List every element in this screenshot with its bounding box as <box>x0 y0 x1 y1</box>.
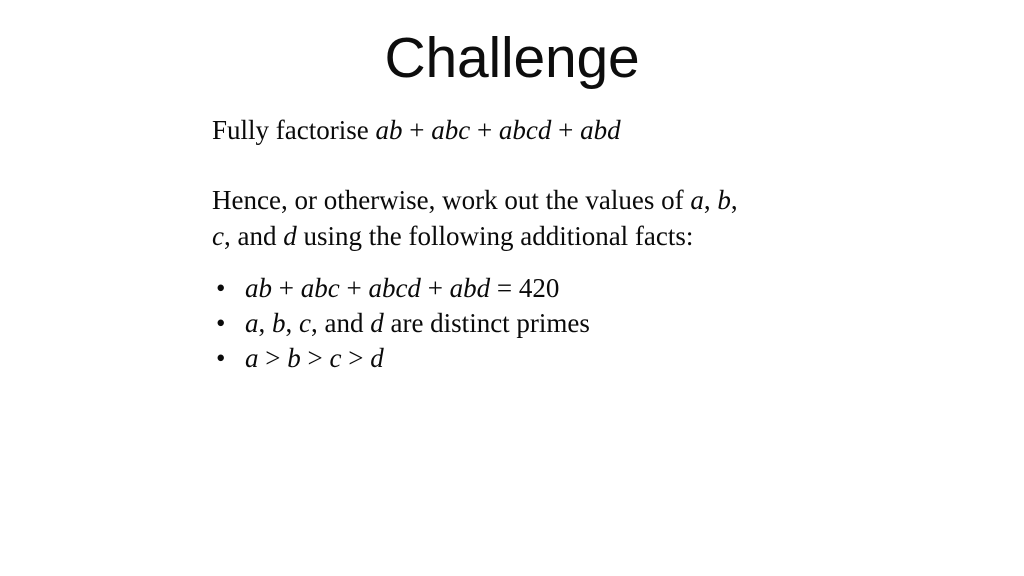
fact1-value: 420 <box>519 273 560 303</box>
additional-facts-list: • ab + abc + abcd + abd = 420 • a, b, c,… <box>212 271 912 376</box>
fact2-sep-2: , <box>286 308 300 338</box>
fact1-plus-3: + <box>421 273 450 303</box>
fact2-tail: are distinct primes <box>384 308 590 338</box>
fact1-equals: = <box>490 273 519 303</box>
fact3-variable-c: c <box>329 343 341 373</box>
separator-1: , <box>704 185 718 215</box>
separator-3: , and <box>224 221 283 251</box>
term-ab: ab <box>375 115 402 145</box>
list-item: • ab + abc + abcd + abd = 420 <box>212 271 912 306</box>
plus-operator-1: + <box>402 115 431 145</box>
fact3-variable-d: d <box>370 343 384 373</box>
bullet-dot-icon: • <box>216 306 230 341</box>
page-title: Challenge <box>0 28 1024 88</box>
paragraph1-lead: Fully factorise <box>212 115 375 145</box>
variable-c-inline: c <box>212 221 224 251</box>
bullet-dot-icon: • <box>216 271 230 306</box>
plus-operator-3: + <box>551 115 580 145</box>
fact2-variable-a: a <box>245 308 259 338</box>
paragraph-hence-or-otherwise: Hence, or otherwise, work out the values… <box>212 182 912 254</box>
fact3-gt-2: > <box>301 343 330 373</box>
fact-distinct-primes: a, b, c, and d are distinct primes <box>245 306 590 341</box>
fact1-plus-2: + <box>340 273 369 303</box>
slide-canvas: Challenge Fully factorise ab + abc + abc… <box>0 0 1024 576</box>
list-item: • a, b, c, and d are distinct primes <box>212 306 912 341</box>
plus-operator-2: + <box>470 115 499 145</box>
fact2-sep-3: , and <box>311 308 370 338</box>
term-abd: abd <box>580 115 621 145</box>
fact1-term-ab: ab <box>245 273 272 303</box>
paragraph-spacer <box>212 148 912 182</box>
fact2-variable-b: b <box>272 308 286 338</box>
fact3-variable-b: b <box>287 343 301 373</box>
paragraph2-tail: using the following additional facts: <box>297 221 694 251</box>
term-abcd: abcd <box>499 115 551 145</box>
fact1-plus-1: + <box>272 273 301 303</box>
slide-body: Fully factorise ab + abc + abcd + abd He… <box>212 112 912 376</box>
variable-d-inline: d <box>283 221 297 251</box>
fact3-gt-3: > <box>341 343 370 373</box>
list-spacer <box>212 254 912 271</box>
list-item: • a > b > c > d <box>212 341 912 376</box>
fact2-variable-c: c <box>299 308 311 338</box>
fact2-variable-d: d <box>370 308 384 338</box>
separator-2: , <box>731 185 738 215</box>
fact1-term-abcd: abcd <box>368 273 420 303</box>
fact-equation: ab + abc + abcd + abd = 420 <box>245 271 559 306</box>
variable-a-inline: a <box>690 185 704 215</box>
variable-b-inline: b <box>717 185 731 215</box>
fact3-variable-a: a <box>245 343 259 373</box>
paragraph-fully-factorise: Fully factorise ab + abc + abcd + abd <box>212 112 912 148</box>
fact1-term-abd: abd <box>450 273 491 303</box>
fact2-sep-1: , <box>259 308 273 338</box>
fact1-term-abc: abc <box>301 273 340 303</box>
fact3-gt-1: > <box>259 343 288 373</box>
paragraph2-lead: Hence, or otherwise, work out the values… <box>212 185 690 215</box>
fact-ordering: a > b > c > d <box>245 341 384 376</box>
bullet-dot-icon: • <box>216 341 230 376</box>
term-abc: abc <box>431 115 470 145</box>
